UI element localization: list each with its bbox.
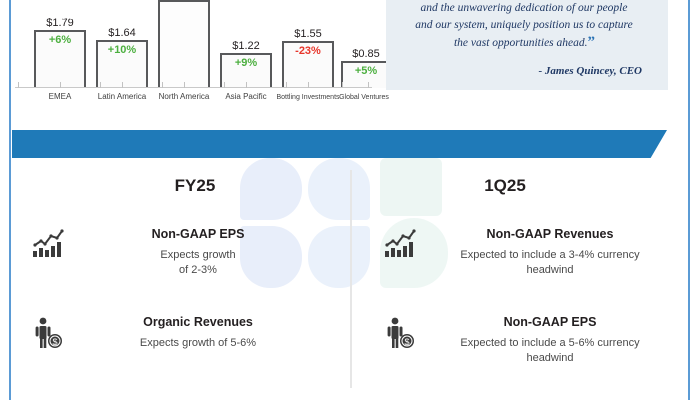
bar-delta-latin-america: +10%: [108, 44, 136, 56]
outlook-item-title: Organic Revenues: [70, 314, 326, 330]
bar-delta-bottling-investments: -23%: [295, 45, 321, 57]
outlook-item-1q25-non-gaap-revenues: Non-GAAP Revenues Expected to include a …: [378, 226, 678, 278]
outlook-item-fy25-organic-revenues: $ Organic Revenues Expects growth of 5-6…: [26, 314, 326, 351]
bar-rect-latin-america: +10%: [96, 40, 148, 88]
chart-axis-line: [15, 87, 372, 88]
quote-attribution: - James Quincey, CEO: [539, 65, 642, 77]
outlook-item-title: Non-GAAP EPS: [422, 314, 678, 330]
outlook-item-text: Non-GAAP Revenues Expected to include a …: [422, 226, 678, 278]
axis-tick: [18, 82, 19, 88]
axis-tick: [308, 82, 309, 88]
column-header-fy25: FY25: [130, 176, 260, 196]
bar-value-asia-pacific: $1.22: [232, 40, 260, 52]
bar-rect-global-ventures: +5%: [341, 61, 391, 88]
bar-chart-trend-icon: [26, 226, 70, 258]
bar-delta-emea: +6%: [49, 34, 71, 46]
category-label-north-america: North America: [148, 92, 220, 102]
outlook-item-detail: Expected to include a 5-6% currency head…: [422, 336, 678, 366]
bar-group-bottling-investments: $1.55 -23%: [278, 28, 338, 88]
axis-tick: [368, 82, 369, 88]
page-right-border: [688, 0, 690, 400]
outlook-section-banner: [12, 130, 667, 158]
watermark-shape: [380, 158, 442, 216]
outlook-item-detail: Expects growth of 5-6%: [70, 336, 326, 351]
bar-rect-north-america: [158, 0, 210, 88]
bar-rect-emea: +6%: [34, 30, 86, 88]
page-left-border: [9, 0, 11, 400]
axis-tick: [286, 82, 287, 88]
column-header-1q25: 1Q25: [440, 176, 570, 196]
closing-quote-mark: ”: [588, 34, 595, 50]
axis-tick: [100, 82, 101, 88]
person-dollar-icon: $: [26, 314, 70, 350]
slide-page: $1.79 +6% $1.64 +10% $1.22 +9%: [0, 0, 700, 400]
bar-group-asia-pacific: $1.22 +9%: [216, 40, 276, 88]
person-dollar-icon: $: [378, 314, 422, 350]
bar-group-latin-america: $1.64 +10%: [92, 27, 152, 88]
outlook-item-title: Non-GAAP Revenues: [422, 226, 678, 242]
axis-tick: [224, 82, 225, 88]
bar-rect-bottling-investments: -23%: [282, 41, 334, 88]
bar-value-global-ventures: $0.85: [352, 48, 380, 60]
watermark-shape: [308, 158, 370, 220]
outlook-item-fy25-non-gaap-eps: Non-GAAP EPS Expects growth of 2-3%: [26, 226, 326, 278]
column-divider: [350, 170, 352, 388]
outlook-item-text: Non-GAAP EPS Expected to include a 5-6% …: [422, 314, 678, 366]
category-label-emea: EMEA: [30, 92, 90, 102]
outlook-item-1q25-non-gaap-eps: $ Non-GAAP EPS Expected to include a 5-6…: [378, 314, 678, 366]
axis-tick: [342, 82, 343, 88]
axis-tick: [162, 82, 163, 88]
axis-tick: [60, 82, 61, 88]
quote-line-3-wrap: the vast opportunities ahead.”: [386, 34, 662, 52]
outlook-item-text: Non-GAAP EPS Expects growth of 2-3%: [70, 226, 326, 278]
quote-line-3: the vast opportunities ahead.: [454, 37, 588, 49]
outlook-item-detail: Expects growth of 2-3%: [70, 248, 326, 278]
category-label-global-ventures: Global Ventures: [332, 93, 396, 103]
svg-text:$: $: [404, 337, 409, 347]
outlook-item-text: Organic Revenues Expects growth of 5-6%: [70, 314, 326, 351]
executive-quote-box: and the unwavering dedication of our peo…: [386, 0, 668, 90]
outlook-section-title: Outlook: [13, 4, 79, 24]
quote-line-1: and the unwavering dedication of our peo…: [386, 0, 662, 17]
axis-tick: [246, 82, 247, 88]
axis-tick: [122, 82, 123, 88]
bar-group-north-america: [154, 0, 214, 88]
outlook-item-title: Non-GAAP EPS: [70, 226, 326, 242]
bar-chart-trend-icon: [378, 226, 422, 258]
quote-line-2: and our system, uniquely position us to …: [386, 17, 662, 34]
bar-value-latin-america: $1.64: [108, 27, 136, 39]
svg-text:$: $: [52, 337, 57, 347]
axis-tick: [184, 82, 185, 88]
bar-delta-asia-pacific: +9%: [235, 57, 257, 69]
bar-value-bottling-investments: $1.55: [294, 28, 322, 40]
bar-delta-global-ventures: +5%: [355, 65, 377, 77]
bar-group-emea: $1.79 +6%: [30, 17, 90, 88]
outlook-item-detail: Expected to include a 3-4% currency head…: [422, 248, 678, 278]
